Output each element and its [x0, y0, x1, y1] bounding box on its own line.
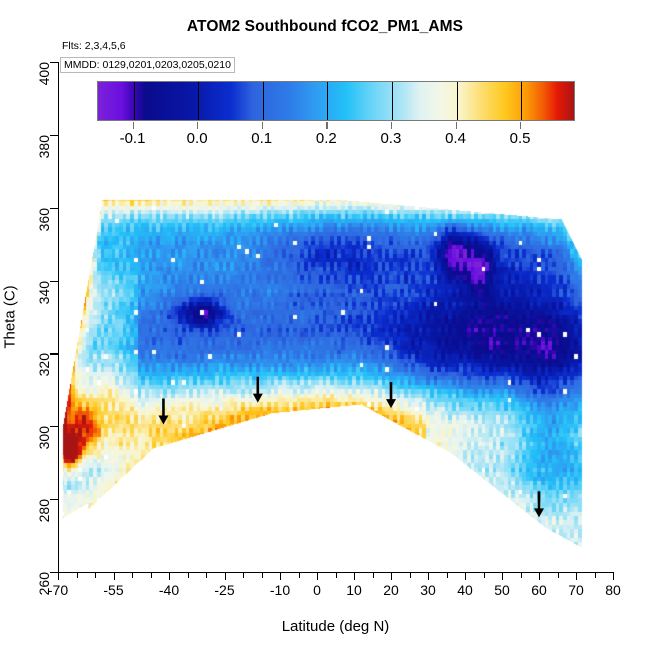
x-tick: [465, 572, 466, 580]
x-tick: [299, 572, 300, 578]
profile-arrow-2: [253, 377, 263, 403]
colorbar-tick: [262, 122, 263, 129]
x-tick: [336, 572, 337, 578]
profile-arrow-3: [386, 382, 396, 408]
x-tick: [502, 572, 503, 580]
x-tick: [410, 572, 411, 578]
y-tick-label: 340: [36, 281, 52, 304]
x-tick: [428, 572, 429, 580]
profile-arrow-1: [158, 398, 168, 424]
colorbar-tick-label: 0.2: [316, 130, 337, 147]
x-tick: [391, 572, 392, 580]
x-tick: [280, 572, 281, 580]
x-tick: [447, 572, 448, 578]
x-tick: [576, 572, 577, 580]
x-tick-label: 50: [494, 582, 510, 598]
x-tick: [539, 572, 540, 580]
x-tick-label: 40: [457, 582, 473, 598]
x-tick-label: 0: [313, 582, 321, 598]
colorbar-tick-label: -0.1: [120, 130, 146, 147]
x-tick: [354, 572, 355, 580]
colorbar-tick: [391, 122, 392, 129]
y-tick-label: 280: [36, 499, 52, 522]
y-tick-label: 360: [36, 208, 52, 231]
x-tick: [58, 572, 59, 580]
x-tick: [132, 572, 133, 578]
colorbar-tick-label: 0.1: [251, 130, 272, 147]
x-tick: [114, 572, 115, 580]
x-tick: [595, 572, 596, 578]
x-tick: [613, 572, 614, 580]
x-axis-title: Latitude (deg N): [58, 618, 613, 635]
x-tick: [95, 572, 96, 578]
page-title: ATOM2 Southbound fCO2_PM1_AMS: [0, 18, 650, 36]
x-tick: [243, 572, 244, 578]
x-tick-label: 20: [383, 582, 399, 598]
x-tick: [169, 572, 170, 580]
x-tick-label: -10: [270, 582, 290, 598]
y-tick-label: 400: [36, 62, 52, 85]
colorbar-tick: [133, 122, 134, 129]
x-tick: [77, 572, 78, 578]
x-tick-label: -55: [103, 582, 123, 598]
x-tick: [484, 572, 485, 578]
x-tick: [151, 572, 152, 578]
x-tick-label: 70: [568, 582, 584, 598]
x-tick: [188, 572, 189, 578]
y-tick-label: 260: [36, 572, 52, 595]
x-tick-label: 30: [420, 582, 436, 598]
x-tick-label: -40: [159, 582, 179, 598]
figure-root: ATOM2 Southbound fCO2_PM1_AMS Flts: 2,3,…: [0, 0, 650, 650]
x-tick-label: 80: [605, 582, 621, 598]
colorbar-tick: [326, 122, 327, 129]
colorbar-tick: [520, 122, 521, 129]
colorbar-tick-label: 0.3: [380, 130, 401, 147]
x-tick-label: -25: [214, 582, 234, 598]
colorbar-tick-label: 0.5: [510, 130, 531, 147]
profile-arrow-4: [534, 491, 544, 517]
x-tick: [225, 572, 226, 580]
y-tick-label: 380: [36, 135, 52, 158]
y-axis-line: [58, 62, 59, 572]
x-tick: [558, 572, 559, 578]
y-tick-label: 320: [36, 353, 52, 376]
x-tick: [262, 572, 263, 578]
x-tick-label: 10: [346, 582, 362, 598]
y-tick-label: 300: [36, 426, 52, 449]
colorbar-tick-label: 0.0: [187, 130, 208, 147]
flights-annotation: Flts: 2,3,4,5,6: [62, 40, 126, 52]
x-tick: [206, 572, 207, 578]
y-axis-title: Theta (C): [2, 285, 19, 348]
x-tick: [373, 572, 374, 578]
colorbar-tick-label: 0.4: [445, 130, 466, 147]
colorbar-tick: [197, 122, 198, 129]
x-tick: [317, 572, 318, 580]
colorbar-tick: [456, 122, 457, 129]
x-tick-label: 60: [531, 582, 547, 598]
x-tick: [521, 572, 522, 578]
